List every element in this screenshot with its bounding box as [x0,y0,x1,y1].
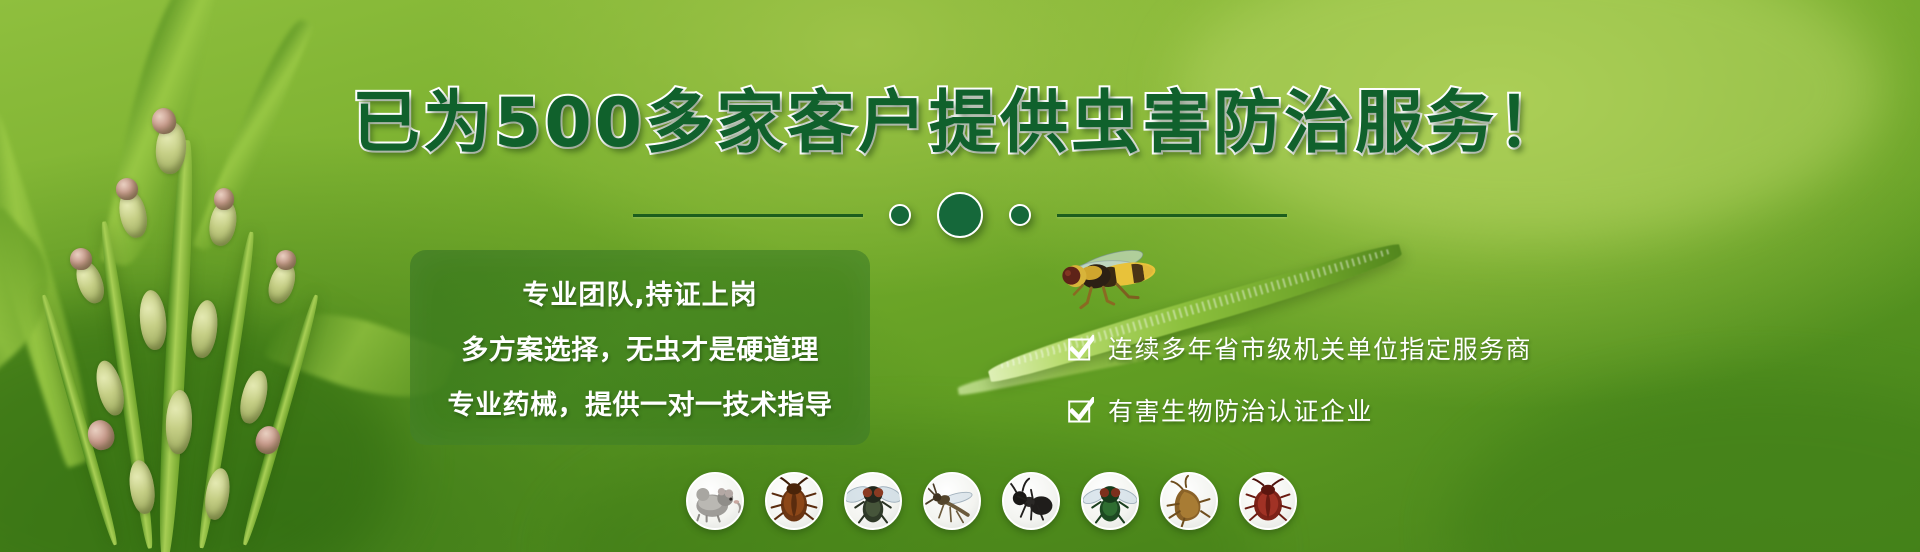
hoverfly-icon [1036,239,1173,317]
mosquito-icon [923,472,981,530]
divider-rule-left [633,214,863,217]
cockroach-icon [765,472,823,530]
pest-control-banner: 已为500多家客户提供虫害防治服务！ 专业团队,持证上岗 多方案选择，无虫才是硬… [0,0,1920,552]
pest-icon-row [686,472,1297,530]
checkbox-checked-icon [1068,397,1094,423]
credential-label: 连续多年省市级机关单位指定服务商 [1108,330,1532,366]
checkbox-checked-icon [1068,335,1094,361]
selling-point-line-2: 多方案选择，无虫才是硬道理 [461,328,819,367]
selling-point-line-3: 专业药械，提供一对一技术指导 [448,383,833,422]
credential-label: 有害生物防治认证企业 [1108,392,1373,428]
ant-icon [1002,472,1060,530]
blowfly-icon [1081,472,1139,530]
divider-dot-small-left [889,204,911,226]
decorative-divider [0,192,1920,238]
banner-headline: 已为500多家客户提供虫害防治服务！ [0,90,1920,158]
credential-item: 连续多年省市级机关单位指定服务商 [1068,330,1532,366]
credentials-list: 连续多年省市级机关单位指定服务商 有害生物防治认证企业 [1068,330,1532,428]
rat-icon [686,472,744,530]
divider-dot-small-right [1009,204,1031,226]
divider-dot-large [937,192,983,238]
selling-points-text: 专业团队,持证上岗 多方案选择，无虫才是硬道理 专业药械，提供一对一技术指导 [410,250,870,445]
selling-point-line-1: 专业团队,持证上岗 [522,273,757,312]
credential-item: 有害生物防治认证企业 [1068,392,1532,428]
fly-icon [844,472,902,530]
background-foliage [0,0,1920,552]
divider-rule-right [1057,214,1287,217]
flea-icon [1160,472,1218,530]
bedbug-icon [1239,472,1297,530]
